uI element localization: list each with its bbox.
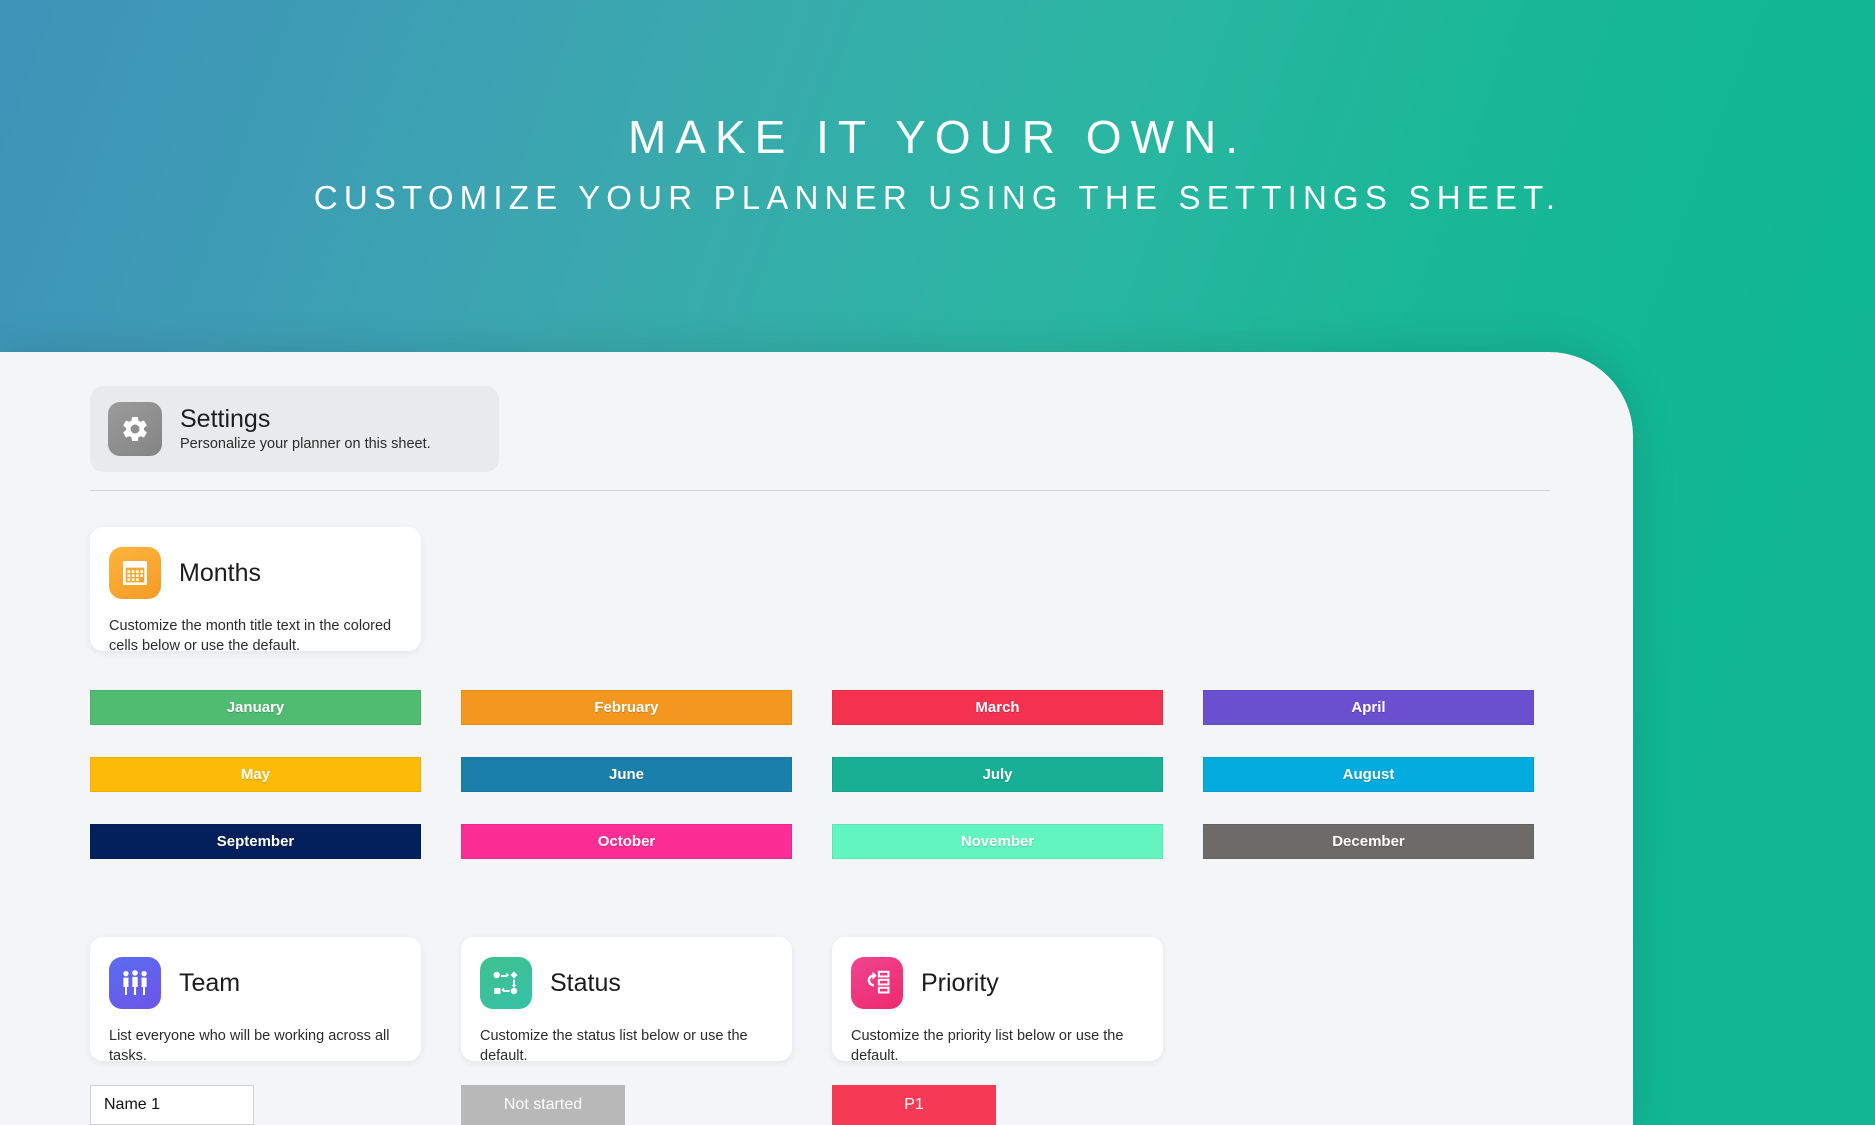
section-divider [90, 490, 1550, 491]
month-cell-december[interactable]: December [1203, 824, 1534, 859]
priority-card-title: Priority [921, 969, 999, 998]
month-cell-november[interactable]: November [832, 824, 1163, 859]
month-cell-july[interactable]: July [832, 757, 1163, 792]
month-cell-october[interactable]: October [461, 824, 792, 859]
gear-icon [108, 402, 162, 456]
team-card-title: Team [179, 969, 240, 998]
month-cell-may[interactable]: May [90, 757, 421, 792]
team-card-description: List everyone who will be working across… [109, 1026, 402, 1066]
settings-banner[interactable]: Settings Personalize your planner on thi… [90, 386, 499, 472]
team-card: Team List everyone who will be working a… [90, 937, 421, 1061]
month-cell-april[interactable]: April [1203, 690, 1534, 725]
priority-card: Priority Customize the priority list bel… [832, 937, 1163, 1061]
hero-banner: MAKE IT YOUR OWN. CUSTOMIZE YOUR PLANNER… [0, 0, 1875, 352]
settings-title: Settings [180, 406, 431, 432]
month-cell-march[interactable]: March [832, 690, 1163, 725]
priority-card-description: Customize the priority list below or use… [851, 1026, 1144, 1066]
team-name-input-1[interactable]: Name 1 [90, 1085, 254, 1125]
settings-subtitle: Personalize your planner on this sheet. [180, 436, 431, 452]
hero-headline: MAKE IT YOUR OWN. [0, 112, 1875, 164]
months-card: Months Customize the month title text in… [90, 527, 421, 651]
status-value-1[interactable]: Not started [461, 1085, 625, 1125]
status-card: Status Customize the status list below o… [461, 937, 792, 1061]
workflow-icon [480, 957, 532, 1009]
month-cell-september[interactable]: September [90, 824, 421, 859]
month-cell-january[interactable]: January [90, 690, 421, 725]
team-card-header: Team [109, 957, 402, 1009]
month-cell-june[interactable]: June [461, 757, 792, 792]
months-card-header: Months [109, 547, 402, 599]
status-card-description: Customize the status list below or use t… [480, 1026, 773, 1066]
status-card-header: Status [480, 957, 773, 1009]
people-group-icon [109, 957, 161, 1009]
settings-sheet-panel: Settings Personalize your planner on thi… [0, 352, 1633, 1125]
priority-list-icon [851, 957, 903, 1009]
month-cell-august[interactable]: August [1203, 757, 1534, 792]
hero-subheadline: CUSTOMIZE YOUR PLANNER USING THE SETTING… [0, 180, 1875, 217]
status-card-title: Status [550, 969, 621, 998]
priority-card-header: Priority [851, 957, 1144, 1009]
priority-value-1[interactable]: P1 [832, 1085, 996, 1125]
months-card-description: Customize the month title text in the co… [109, 616, 402, 656]
calendar-icon [109, 547, 161, 599]
month-cell-february[interactable]: February [461, 690, 792, 725]
months-card-title: Months [179, 559, 261, 588]
settings-banner-text: Settings Personalize your planner on thi… [180, 406, 431, 452]
